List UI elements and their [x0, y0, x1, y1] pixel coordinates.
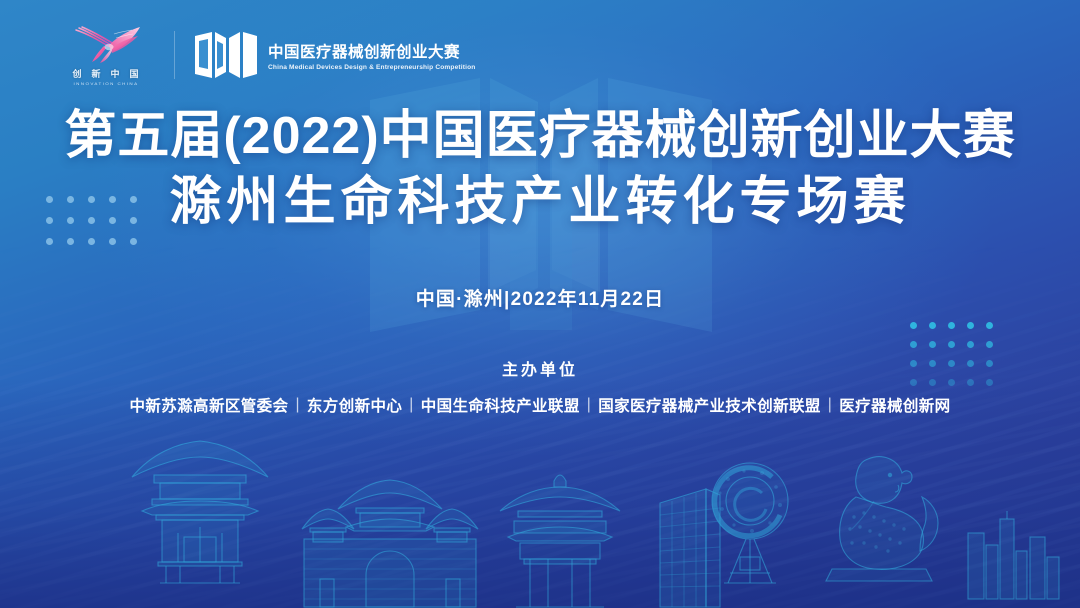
innovation-logo-en-text: INNOVATION CHINA — [74, 81, 139, 86]
host-organization: 东方创新中心 — [307, 394, 402, 416]
logo-char-3: 中 — [111, 67, 121, 80]
city-skyline — [0, 433, 1080, 608]
host-organizations-list: 中新苏滁高新区管委会|东方创新中心|中国生命科技产业联盟|国家医疗器械产业技术创… — [129, 394, 950, 416]
page-title-line-1: 第五届(2022)中国医疗器械创新创业大赛 — [64, 108, 1015, 164]
host-organization: 国家医疗器械产业技术创新联盟 — [598, 394, 821, 416]
event-date-location: 中国·滁州|2022年11月22日 — [416, 284, 665, 311]
host-organization: 医疗器械创新网 — [839, 394, 950, 416]
competition-logo[interactable]: 中国医疗器械创新创业大赛 China Medical Devices Desig… — [195, 29, 475, 81]
logo-char-4: 国 — [130, 67, 140, 80]
phoenix-bird-icon — [68, 24, 144, 64]
innovation-china-logo[interactable]: 创 新 中 国 INNOVATION CHINA — [58, 24, 154, 86]
host-separator: | — [402, 396, 420, 414]
poster-main-content: 第五届(2022)中国医疗器械创新创业大赛 滁州生命科技产业转化专场赛 中国·滁… — [0, 108, 1080, 416]
page-title-line-2: 滁州生命科技产业转化专场赛 — [169, 174, 910, 230]
host-section-label: 主办单位 — [502, 356, 578, 380]
innovation-logo-cn-text: 创 新 中 国 — [72, 67, 139, 80]
logo-char-1: 创 — [72, 67, 82, 80]
open-door-book-icon — [195, 29, 257, 81]
host-organization: 中国生命科技产业联盟 — [421, 394, 580, 416]
host-separator: | — [288, 396, 306, 414]
poster-canvas: 创 新 中 国 INNOVATION CHINA — [0, 0, 1080, 608]
competition-logo-names: 中国医疗器械创新创业大赛 China Medical Devices Desig… — [268, 40, 475, 71]
competition-en-name: China Medical Devices Design & Entrepren… — [268, 64, 475, 71]
competition-cn-name: 中国医疗器械创新创业大赛 — [268, 40, 475, 62]
host-organization: 中新苏滁高新区管委会 — [129, 394, 288, 416]
host-separator: | — [580, 396, 598, 414]
logo-char-2: 新 — [91, 67, 101, 80]
header-logos: 创 新 中 国 INNOVATION CHINA — [58, 24, 475, 86]
logo-divider — [174, 31, 175, 79]
host-separator: | — [821, 396, 839, 414]
